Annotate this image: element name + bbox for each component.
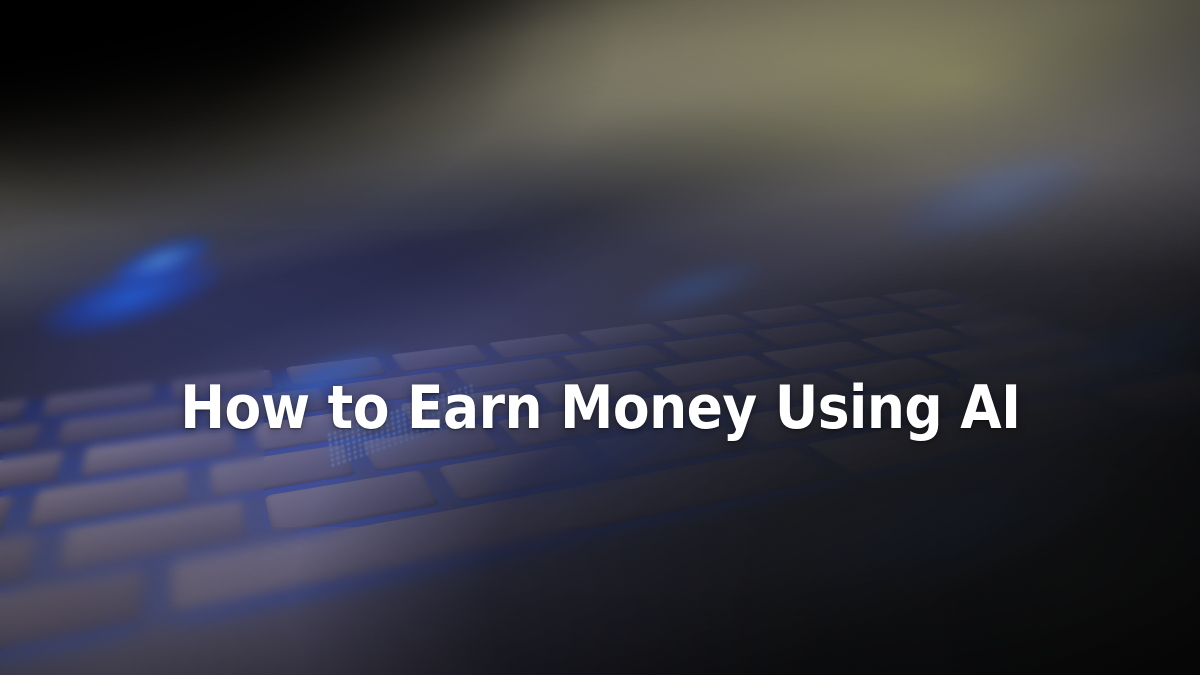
hero-banner: FN How to Earn Money Using AI bbox=[0, 0, 1200, 675]
global-vignette bbox=[0, 0, 1200, 675]
